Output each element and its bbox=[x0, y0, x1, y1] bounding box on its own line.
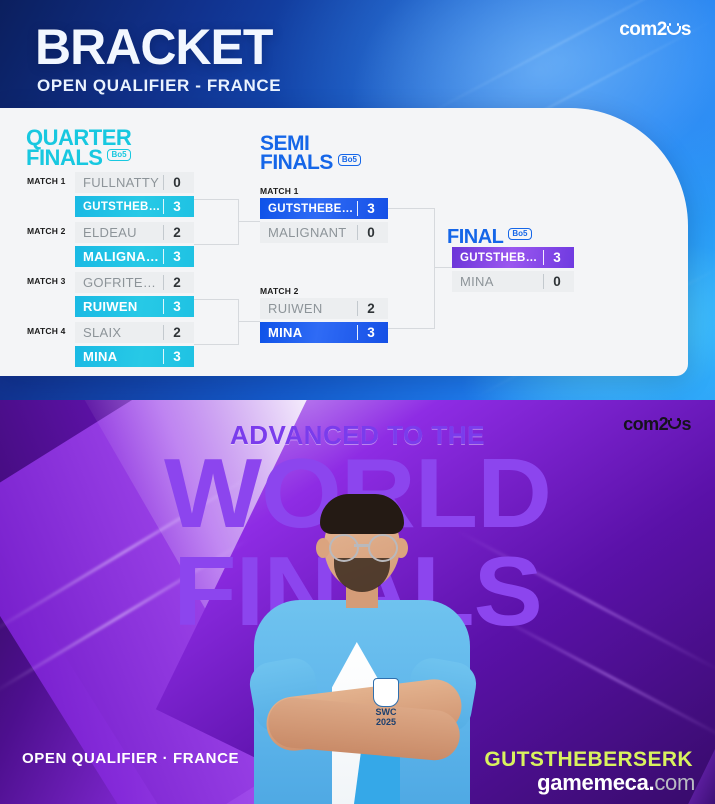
match-label-qf1: MATCH 1 bbox=[27, 176, 66, 186]
team-score: 2 bbox=[357, 301, 384, 316]
bracket-connector-to-sf2 bbox=[238, 321, 260, 322]
team-row-qf1-b: GUTSTHEBERSERK 3 bbox=[75, 196, 194, 217]
team-name: GUTSTHEBERSERK bbox=[75, 201, 163, 213]
team-row-final-a: GUTSTHEBERSERK 3 bbox=[452, 247, 574, 268]
player-ear-left bbox=[316, 538, 330, 558]
match-label-qf3: MATCH 3 bbox=[27, 276, 66, 286]
bracket-connector-to-sf1 bbox=[238, 221, 260, 222]
logo-text: com bbox=[619, 20, 657, 39]
team-score: 3 bbox=[163, 349, 190, 364]
round-title-quarter-finals: QUARTER FINALSBo5 bbox=[26, 128, 131, 168]
team-score: 0 bbox=[357, 225, 384, 240]
team-row-qf4-a: SLAIX 2 bbox=[75, 322, 194, 343]
team-score: 0 bbox=[543, 274, 570, 289]
smiley-icon bbox=[667, 25, 681, 35]
team-name: RUIWEN bbox=[260, 301, 357, 316]
bracket-connector-sf1-sf2 bbox=[388, 208, 435, 329]
logo-text-end: s bbox=[681, 20, 691, 39]
team-row-final-b: MINA 0 bbox=[452, 271, 574, 292]
team-name: RUIWEN bbox=[75, 299, 163, 314]
team-row-qf3-a: GOFRITESSJ 2 bbox=[75, 272, 194, 293]
player-photo: SWC 2025 bbox=[246, 492, 478, 804]
team-name: SLAIX bbox=[75, 325, 163, 340]
watermark-tld: com bbox=[654, 770, 695, 795]
glasses-icon bbox=[329, 534, 359, 562]
player-nickname: GUTSTHEBERSERK bbox=[484, 748, 693, 772]
team-name: MINA bbox=[75, 349, 163, 364]
gamemeca-watermark: gamemeca.com bbox=[537, 770, 695, 796]
format-badge: Bo5 bbox=[107, 149, 130, 161]
bracket-connector-to-final bbox=[434, 267, 452, 268]
round-title-final: FINALBo5 bbox=[447, 228, 532, 246]
team-score: 2 bbox=[163, 225, 190, 240]
team-name: MINA bbox=[452, 274, 543, 289]
team-row-sf1-a: GUTSTHEBERSERK 3 bbox=[260, 198, 388, 219]
round-title-line2: FINALS bbox=[26, 148, 102, 168]
page-title: BRACKET bbox=[35, 22, 272, 72]
team-name: MALIGNANT bbox=[75, 249, 163, 264]
team-score: 0 bbox=[163, 175, 190, 190]
team-score: 3 bbox=[163, 199, 190, 214]
round-title-line1: FINAL bbox=[447, 228, 503, 246]
team-row-qf4-b: MINA 3 bbox=[75, 346, 194, 367]
bracket-connector-qf3-qf4 bbox=[194, 299, 239, 345]
match-label-sf2: MATCH 2 bbox=[260, 286, 299, 296]
team-name: MALIGNANT bbox=[260, 225, 357, 240]
bracket-connector-qf1-qf2 bbox=[194, 199, 239, 245]
jersey-year-text: 2025 bbox=[364, 718, 408, 728]
watermark-name: gamemeca bbox=[537, 770, 648, 795]
format-badge: Bo5 bbox=[508, 228, 531, 240]
player-hair bbox=[320, 494, 404, 534]
shield-icon bbox=[373, 678, 399, 707]
team-name: GOFRITESSJ bbox=[75, 275, 163, 290]
player-beard bbox=[334, 558, 390, 592]
glasses-icon bbox=[368, 534, 398, 562]
com2us-logo-bottom: com2s bbox=[623, 415, 691, 433]
match-label-qf2: MATCH 2 bbox=[27, 226, 66, 236]
team-name: ELDEAU bbox=[75, 225, 163, 240]
team-score: 3 bbox=[163, 299, 190, 314]
smiley-icon bbox=[668, 419, 681, 428]
match-label-qf4: MATCH 4 bbox=[27, 326, 66, 336]
team-row-qf1-a: FULLNATTY 0 bbox=[75, 172, 194, 193]
glasses-bridge bbox=[354, 544, 369, 547]
team-score: 3 bbox=[357, 201, 384, 216]
team-score: 3 bbox=[543, 250, 570, 265]
team-name: MINA bbox=[260, 325, 357, 340]
team-score: 3 bbox=[357, 325, 384, 340]
round-title-line2: FINALS bbox=[260, 153, 333, 172]
logo-text: com bbox=[623, 415, 659, 433]
page-subtitle: OPEN QUALIFIER - FRANCE bbox=[37, 76, 281, 96]
open-qualifier-caption: OPEN QUALIFIER · FRANCE bbox=[22, 750, 239, 767]
com2us-logo-top: com2s bbox=[619, 20, 691, 39]
match-label-sf1: MATCH 1 bbox=[260, 186, 299, 196]
team-row-qf2-a: ELDEAU 2 bbox=[75, 222, 194, 243]
logo-text-end: s bbox=[681, 415, 691, 433]
advanced-text: ADVANCED TO THE bbox=[0, 420, 715, 451]
team-score: 2 bbox=[163, 325, 190, 340]
team-row-qf3-b: RUIWEN 3 bbox=[75, 296, 194, 317]
format-badge: Bo5 bbox=[338, 154, 361, 166]
team-score: 3 bbox=[163, 249, 190, 264]
swc-bracket-graphic: BRACKET OPEN QUALIFIER - FRANCE com2s QU… bbox=[0, 0, 715, 804]
team-score: 2 bbox=[163, 275, 190, 290]
team-row-sf1-b: MALIGNANT 0 bbox=[260, 222, 388, 243]
team-row-qf2-b: MALIGNANT 3 bbox=[75, 246, 194, 267]
team-row-sf2-b: MINA 3 bbox=[260, 322, 388, 343]
round-title-semi-finals: SEMI FINALSBo5 bbox=[260, 134, 361, 173]
logo-number: 2 bbox=[659, 415, 669, 433]
team-row-sf2-a: RUIWEN 2 bbox=[260, 298, 388, 319]
jersey-swc-badge: SWC 2025 bbox=[364, 678, 408, 718]
team-name: FULLNATTY bbox=[75, 175, 163, 190]
team-name: GUTSTHEBERSERK bbox=[452, 252, 543, 264]
team-name: GUTSTHEBERSERK bbox=[260, 203, 357, 215]
logo-number: 2 bbox=[657, 20, 667, 39]
